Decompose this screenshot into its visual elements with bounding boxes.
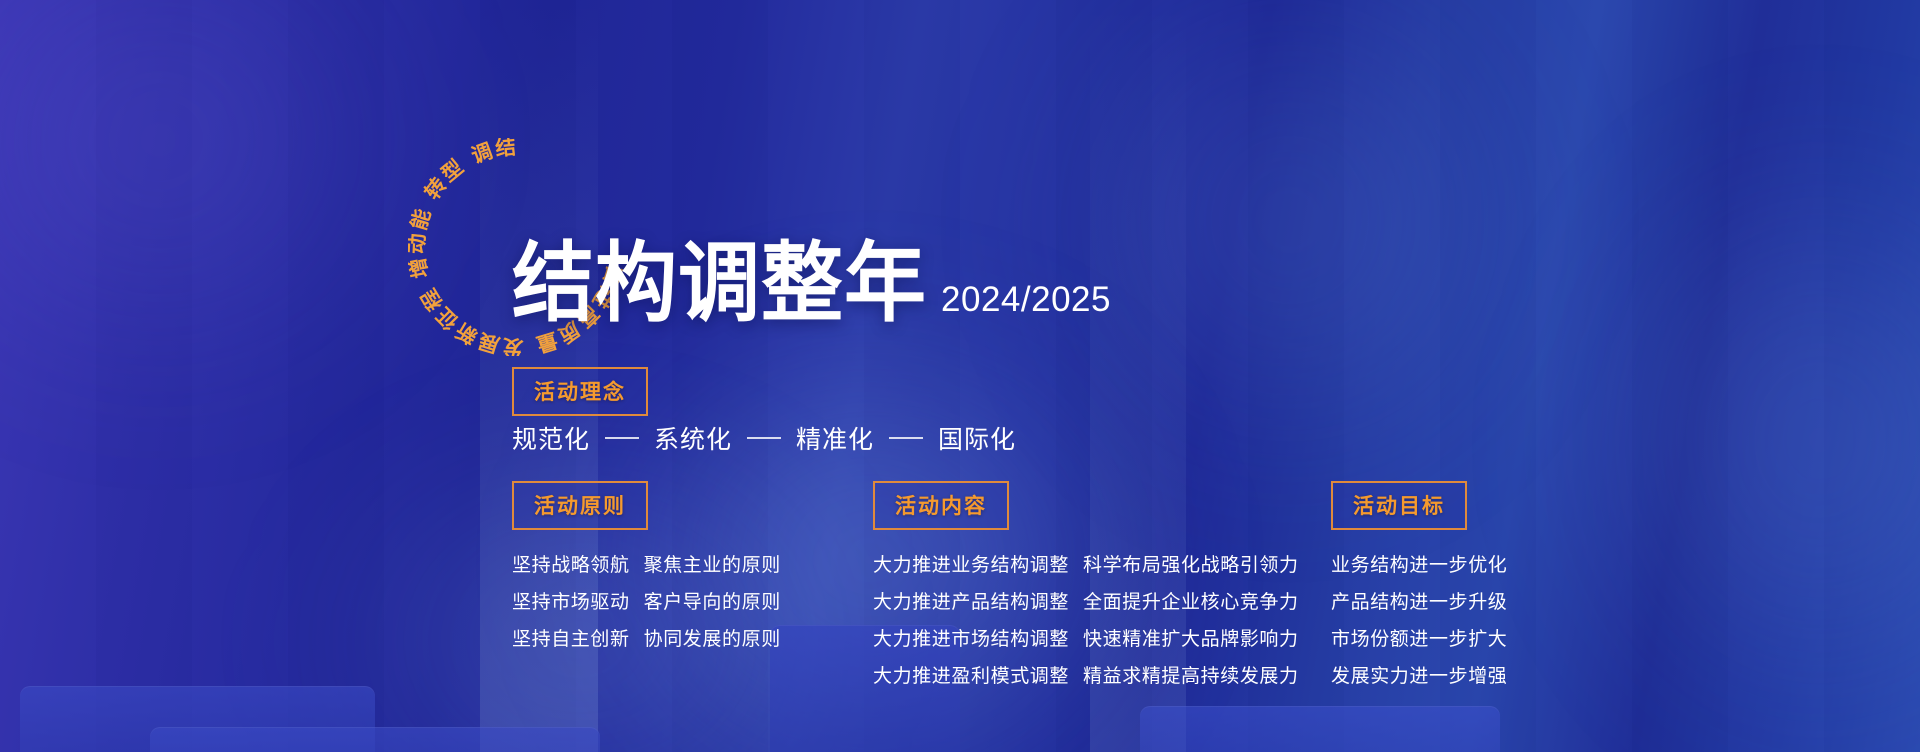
concept-separator-0 [605, 437, 639, 439]
concept-keyword-1: 系统化 [654, 420, 732, 456]
contents-list: 大力推进业务结构调整 科学布局强化战略引领力 大力推进产品结构调整 全面提升企业… [873, 550, 1299, 688]
column-goals: 活动目标 业务结构进一步优化 产品结构进一步升级 市场份额进一步扩大 发展实力进… [1331, 481, 1507, 688]
principle-rhs: 客户导向的原则 [644, 587, 781, 614]
principles-list: 坚持战略领航 聚焦主业的原则 坚持市场驱动 客户导向的原则 坚持自主创新 协同发… [512, 550, 781, 651]
list-item: 发展实力进一步增强 [1331, 661, 1507, 688]
banner-content: 奋进高质量 发展新征程 增动能 转型 调结构 结构调整年 2024/2025 活… [0, 0, 1920, 752]
badge-activity-goals[interactable]: 活动目标 [1331, 481, 1467, 530]
goals-list: 业务结构进一步优化 产品结构进一步升级 市场份额进一步扩大 发展实力进一步增强 [1331, 550, 1507, 688]
principle-rhs: 协同发展的原则 [644, 624, 781, 651]
concept-keyword-3: 国际化 [938, 420, 1016, 456]
principle-lhs: 坚持自主创新 [512, 624, 630, 651]
list-item: 市场份额进一步扩大 [1331, 624, 1507, 651]
concept-keyword-line: 规范化 系统化 精准化 国际化 [512, 420, 1016, 456]
concept-separator-1 [747, 437, 781, 439]
list-item: 大力推进市场结构调整 快速精准扩大品牌影响力 [873, 624, 1299, 651]
content-rhs: 快速精准扩大品牌影响力 [1083, 624, 1299, 651]
list-item: 业务结构进一步优化 [1331, 550, 1507, 577]
concept-keyword-2: 精准化 [796, 420, 874, 456]
principle-rhs: 聚焦主业的原则 [644, 550, 781, 577]
badge-activity-concept[interactable]: 活动理念 [512, 367, 648, 416]
concept-keyword-0: 规范化 [512, 420, 590, 456]
list-item: 产品结构进一步升级 [1331, 587, 1507, 614]
concept-separator-2 [889, 437, 923, 439]
list-item: 大力推进业务结构调整 科学布局强化战略引领力 [873, 550, 1299, 577]
content-rhs: 科学布局强化战略引领力 [1083, 550, 1299, 577]
badge-activity-contents[interactable]: 活动内容 [873, 481, 1009, 530]
banner-root: 奋进高质量 发展新征程 增动能 转型 调结构 结构调整年 2024/2025 活… [0, 0, 1920, 752]
list-item: 坚持市场驱动 客户导向的原则 [512, 587, 781, 614]
content-lhs: 大力推进市场结构调整 [873, 624, 1069, 651]
title-years: 2024/2025 [941, 280, 1111, 328]
list-item: 大力推进产品结构调整 全面提升企业核心竞争力 [873, 587, 1299, 614]
principle-lhs: 坚持市场驱动 [512, 587, 630, 614]
title-row: 结构调整年 2024/2025 [512, 246, 1111, 328]
content-lhs: 大力推进业务结构调整 [873, 550, 1069, 577]
content-rhs: 全面提升企业核心竞争力 [1083, 587, 1299, 614]
list-item: 大力推进盈利模式调整 精益求精提高持续发展力 [873, 661, 1299, 688]
content-lhs: 大力推进盈利模式调整 [873, 661, 1069, 688]
column-contents: 活动内容 大力推进业务结构调整 科学布局强化战略引领力 大力推进产品结构调整 全… [873, 481, 1299, 688]
content-lhs: 大力推进产品结构调整 [873, 587, 1069, 614]
list-item: 坚持自主创新 协同发展的原则 [512, 624, 781, 651]
list-item: 坚持战略领航 聚焦主业的原则 [512, 550, 781, 577]
page-title: 结构调整年 [512, 241, 927, 328]
column-principles: 活动原则 坚持战略领航 聚焦主业的原则 坚持市场驱动 客户导向的原则 坚持自主创… [512, 481, 781, 651]
badge-activity-principles[interactable]: 活动原则 [512, 481, 648, 530]
principle-lhs: 坚持战略领航 [512, 550, 630, 577]
content-rhs: 精益求精提高持续发展力 [1083, 661, 1299, 688]
